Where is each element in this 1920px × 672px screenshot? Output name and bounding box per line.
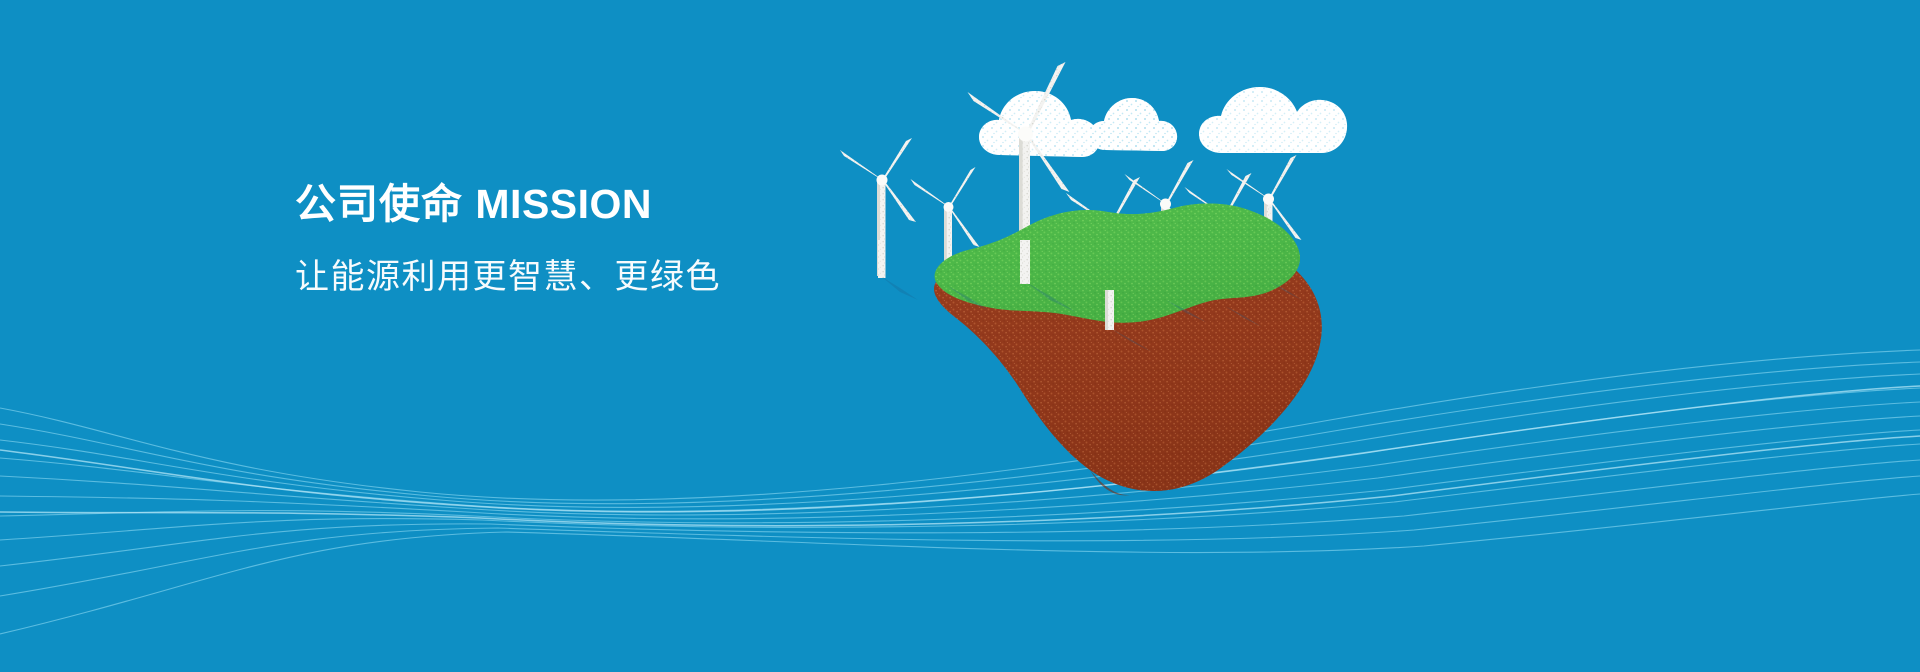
cloud-icon-left bbox=[979, 91, 1100, 157]
cloud-icon-right bbox=[1199, 87, 1347, 153]
page-title-cn: 公司使命 bbox=[295, 181, 463, 227]
page-title: 公司使命 MISSION bbox=[295, 180, 915, 228]
page-title-en: MISSION bbox=[475, 181, 652, 227]
floating-island-illustration bbox=[0, 0, 1920, 672]
wind-turbine-front-mid bbox=[1020, 240, 1030, 284]
mission-text-block: 公司使命 MISSION 让能源利用更智慧、更绿色 bbox=[295, 180, 915, 300]
page-subtitle: 让能源利用更智慧、更绿色 bbox=[295, 255, 915, 299]
cloud-icon-middle bbox=[1089, 98, 1177, 151]
wind-turbine-front-low bbox=[1105, 290, 1114, 330]
mission-banner: 公司使命 MISSION 让能源利用更智慧、更绿色 bbox=[0, 0, 1920, 672]
